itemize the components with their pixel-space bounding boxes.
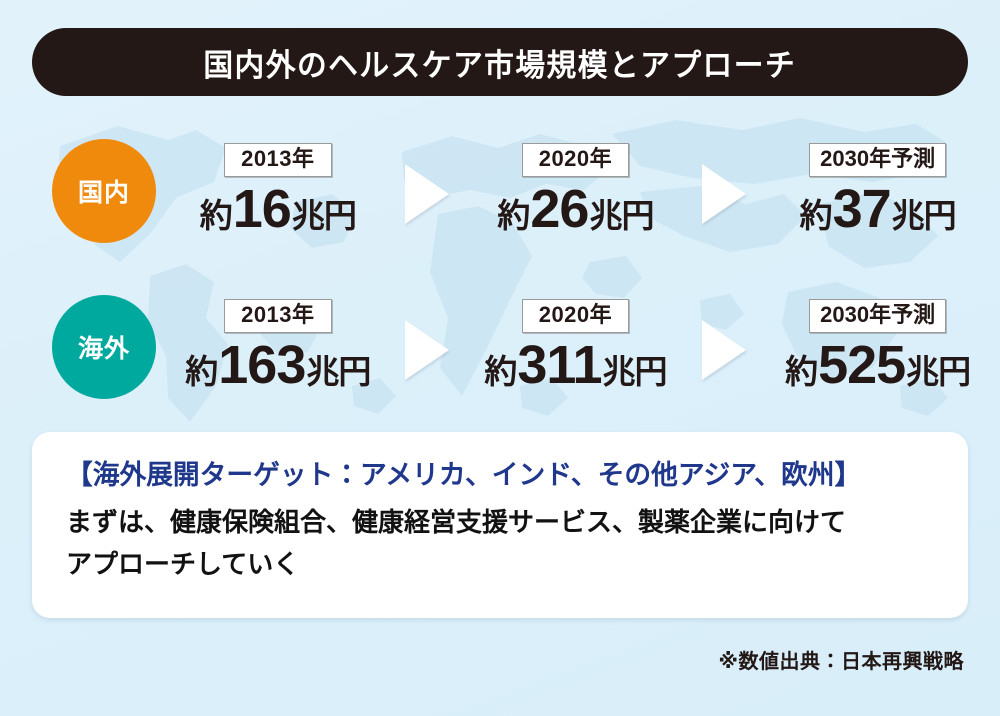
year-label-domestic-2013: 2013年	[224, 143, 331, 177]
card-heading: 【海外展開ターゲット：アメリカ、インド、その他アジア、欧州】	[66, 458, 925, 493]
value-unit: 兆円	[589, 199, 653, 234]
arrow-right-icon-domestic-2	[693, 164, 755, 224]
header-title-bar: 国内外のヘルスケア市場規模とアプローチ	[32, 28, 968, 96]
stage-domestic-2030: 2030年予測 約 37 兆円	[755, 143, 1000, 238]
value-unit: 兆円	[306, 355, 370, 390]
value-unit: 兆円	[906, 355, 970, 390]
summary-card: 【海外展開ターゲット：アメリカ、インド、その他アジア、欧州】 まずは、健康保険組…	[32, 432, 968, 618]
value-overseas-2013: 約 163 兆円	[185, 337, 370, 394]
data-row-overseas: 海外 2013年 約 163 兆円 2020年 約 311 兆円	[0, 288, 1000, 406]
value-prefix: 約	[185, 355, 217, 390]
value-number: 26	[529, 181, 589, 238]
data-row-domestic: 国内 2013年 約 16 兆円 2020年 約 26 兆円	[0, 132, 1000, 250]
badge-overseas: 海外	[52, 295, 156, 399]
value-prefix: 約	[800, 199, 832, 234]
value-prefix: 約	[484, 355, 516, 390]
card-body-line-1: まずは、健康保険組合、健康経営支援サービス、製薬企業に向けて	[66, 501, 934, 543]
value-number: 525	[817, 337, 906, 394]
stage-overseas-2020: 2020年 約 311 兆円	[458, 299, 694, 394]
source-note: ※数値出典：日本再興戦略	[719, 645, 964, 674]
value-prefix: 約	[785, 355, 817, 390]
stage-overseas-2030: 2030年予測 約 525 兆円	[755, 299, 1000, 394]
value-number: 16	[232, 181, 292, 238]
value-domestic-2030: 約 37 兆円	[800, 181, 956, 238]
year-label-overseas-2020: 2020年	[522, 299, 629, 333]
value-unit: 兆円	[292, 199, 356, 234]
stage-domestic-2013: 2013年 約 16 兆円	[160, 143, 396, 238]
badge-overseas-label: 海外	[78, 329, 130, 365]
stage-domestic-2020: 2020年 約 26 兆円	[458, 143, 694, 238]
badge-domestic-label: 国内	[78, 173, 130, 209]
year-label-domestic-2020: 2020年	[522, 143, 629, 177]
value-overseas-2020: 約 311 兆円	[484, 337, 666, 394]
value-prefix: 約	[497, 199, 529, 234]
arrow-right-icon-overseas-1	[396, 320, 458, 380]
page-title: 国内外のヘルスケア市場規模とアプローチ	[204, 40, 797, 85]
card-body-line-2: アプローチしていく	[66, 543, 934, 585]
year-label-overseas-2013: 2013年	[224, 299, 331, 333]
value-domestic-2013: 約 16 兆円	[200, 181, 356, 238]
value-prefix: 約	[200, 199, 232, 234]
stages-overseas: 2013年 約 163 兆円 2020年 約 311 兆円 2030年予測	[160, 288, 1000, 406]
value-unit: 兆円	[603, 355, 667, 390]
value-number: 311	[516, 337, 602, 394]
year-label-domestic-2030: 2030年予測	[809, 143, 946, 177]
stages-domestic: 2013年 約 16 兆円 2020年 約 26 兆円 2030年予測	[160, 132, 1000, 250]
arrow-right-icon-domestic-1	[396, 164, 458, 224]
value-unit: 兆円	[892, 199, 956, 234]
stage-overseas-2013: 2013年 約 163 兆円	[160, 299, 396, 394]
value-number: 163	[217, 337, 306, 394]
infographic-root: 国内外のヘルスケア市場規模とアプローチ 国内 2013年 約 16 兆円 202…	[0, 0, 1000, 716]
value-domestic-2020: 約 26 兆円	[497, 181, 653, 238]
arrow-right-icon-overseas-2	[693, 320, 755, 380]
badge-domestic: 国内	[52, 139, 156, 243]
card-body: まずは、健康保険組合、健康経営支援サービス、製薬企業に向けて アプローチしていく	[66, 501, 934, 585]
value-overseas-2030: 約 525 兆円	[785, 337, 970, 394]
value-number: 37	[832, 181, 892, 238]
year-label-overseas-2030: 2030年予測	[809, 299, 946, 333]
